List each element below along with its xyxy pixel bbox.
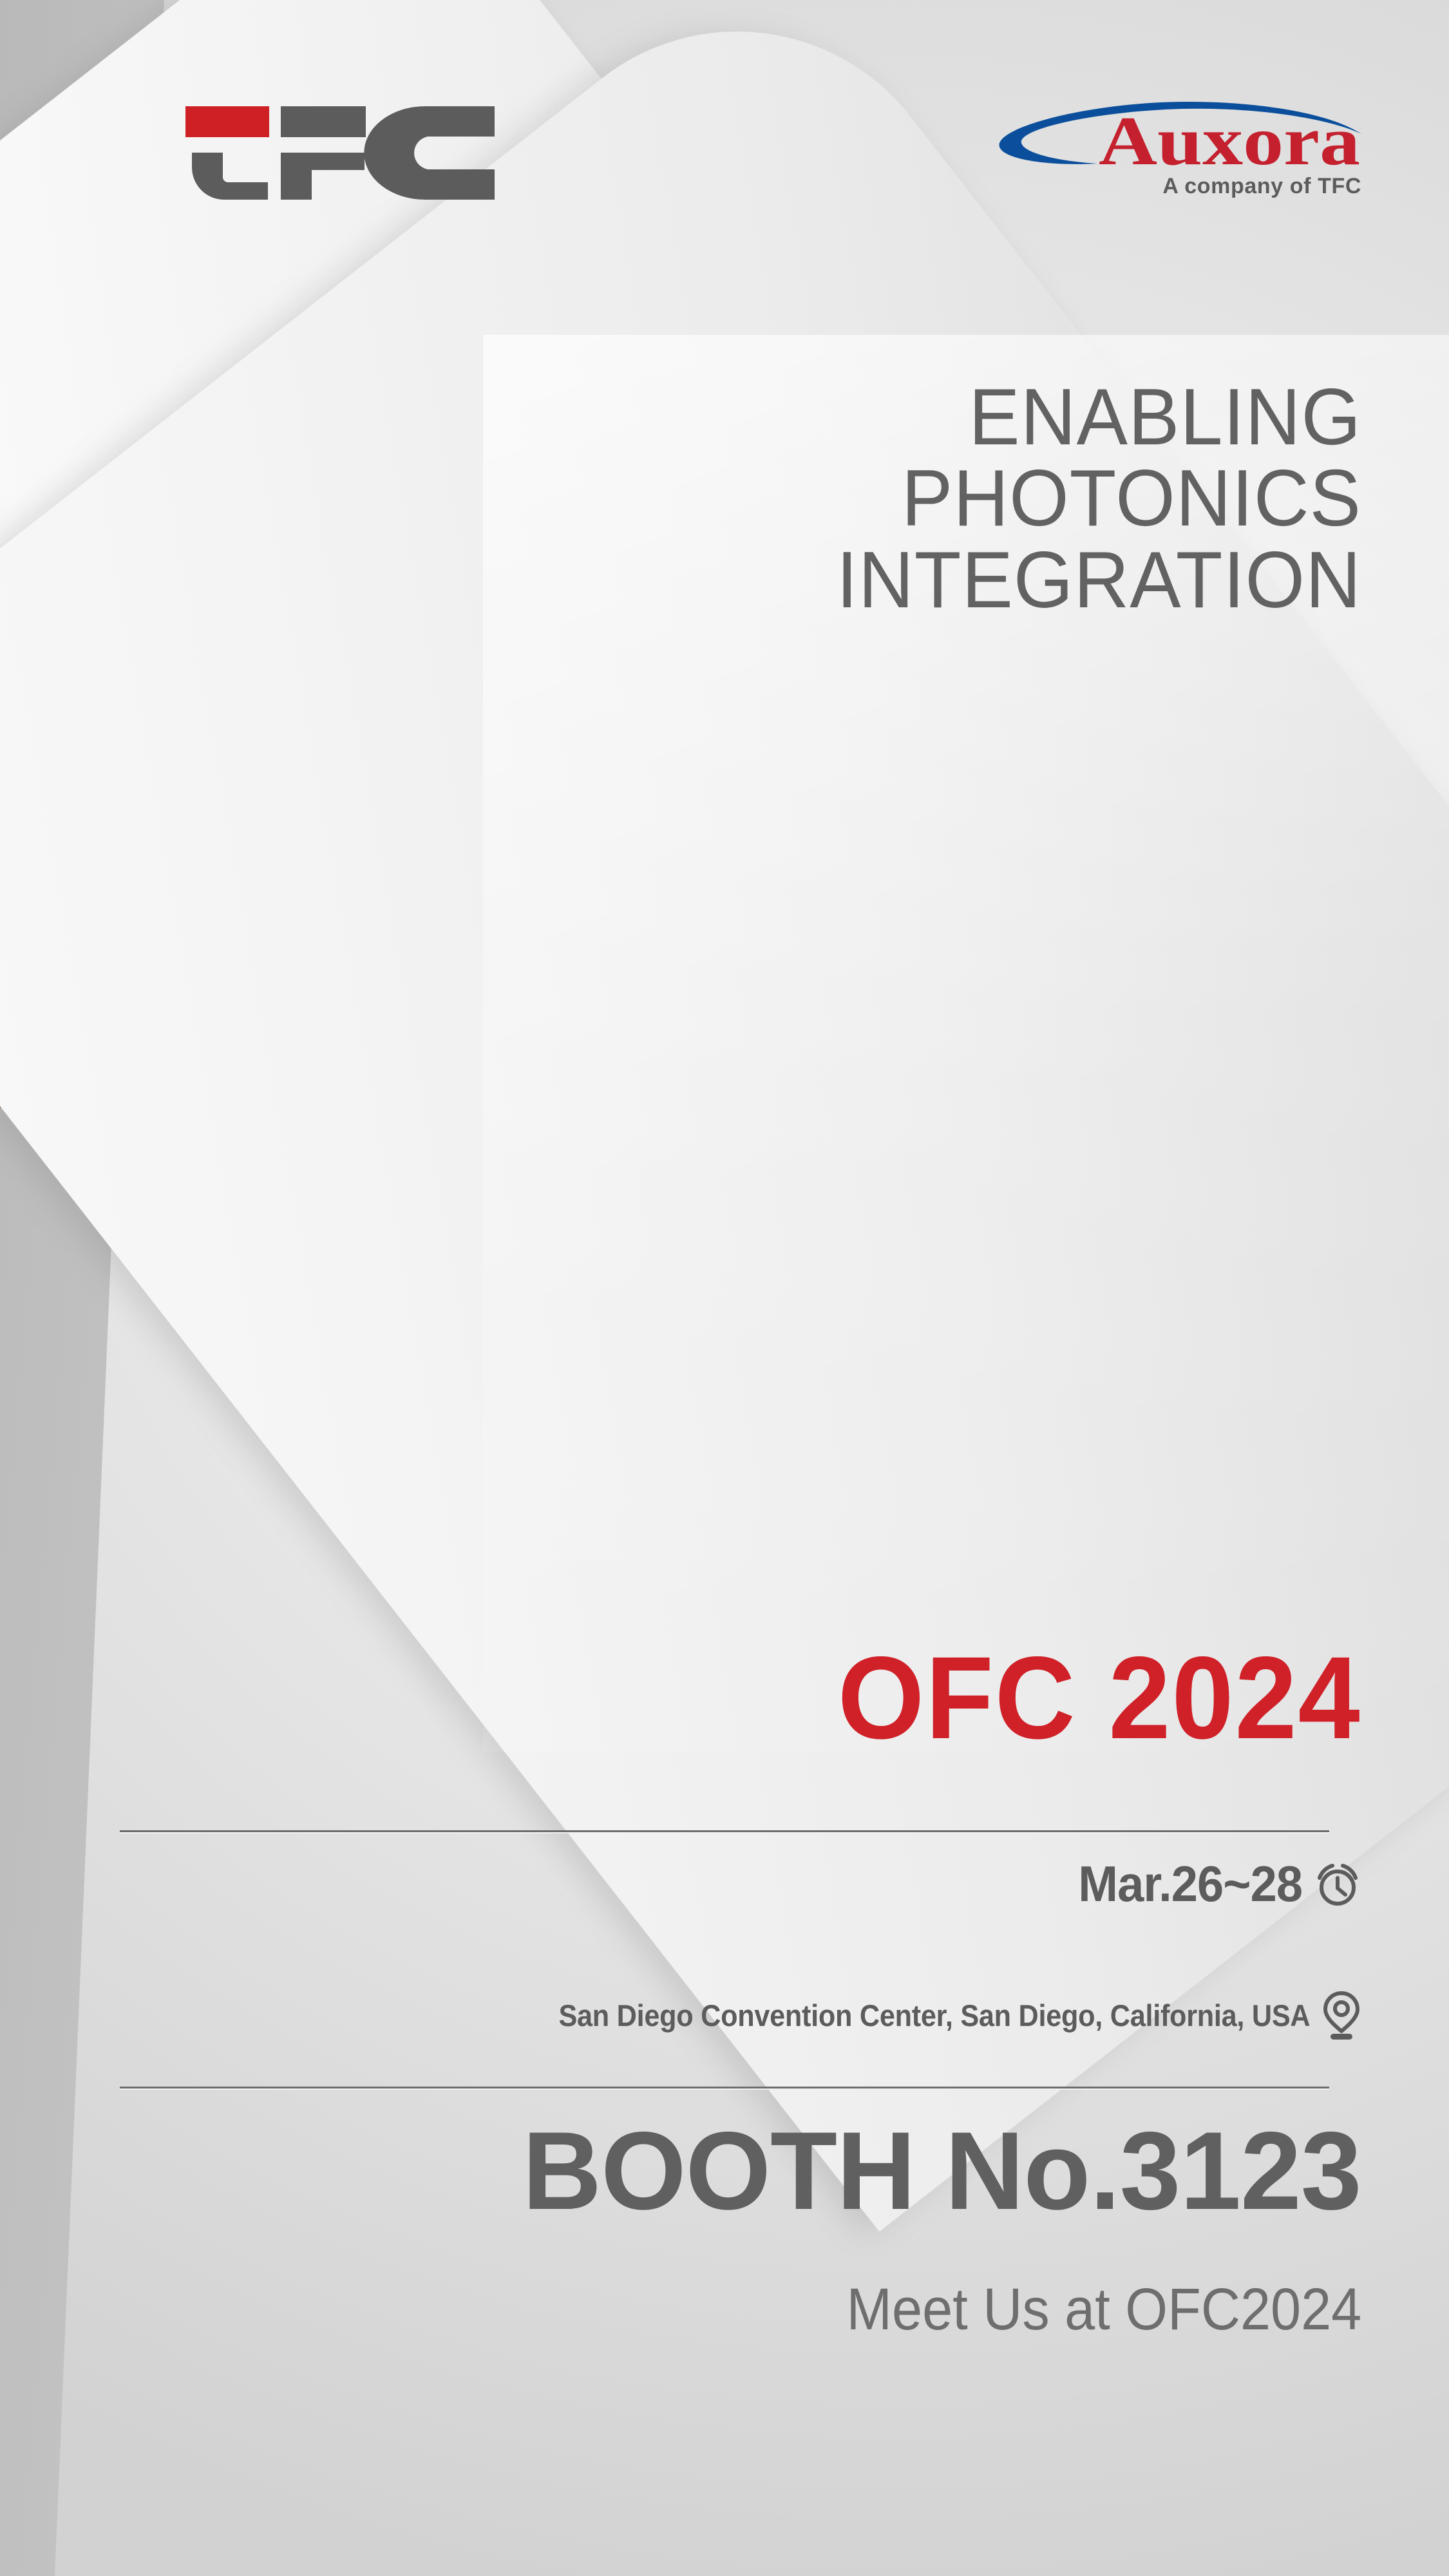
event-venue-row: San Diego Convention Center, San Diego, … [493,1990,1361,2040]
auxora-logo-icon: Auxora [988,97,1361,174]
event-date: Mar.26~28 [1078,1859,1302,1909]
event-name: OFC 2024 [838,1639,1361,1756]
event-venue: San Diego Convention Center, San Diego, … [558,2000,1310,2031]
location-pin-icon [1321,1990,1361,2040]
tfc-logo [185,106,495,200]
tfc-logo-icon [185,106,495,200]
poster-root: Auxora A company of TFC ENABLING PHOTONI… [0,0,1449,2576]
call-to-action: Meet Us at OFC2024 [846,2280,1361,2339]
svg-text:Auxora: Auxora [1099,102,1360,174]
page-title: ENABLING PHOTONICS INTEGRATION [496,377,1361,621]
alarm-clock-icon [1314,1860,1361,1908]
divider-top [120,1830,1329,1833]
auxora-logo: Auxora A company of TFC [988,97,1361,209]
event-date-row: Mar.26~28 [1066,1859,1361,1909]
headline-line-3: INTEGRATION [496,540,1361,621]
headline-line-2: PHOTONICS [496,458,1361,539]
booth-number: BOOTH No.3123 [523,2116,1361,2226]
divider-bottom [120,2087,1329,2090]
auxora-tagline: A company of TFC [988,175,1361,197]
headline-line-1: ENABLING [496,377,1361,458]
